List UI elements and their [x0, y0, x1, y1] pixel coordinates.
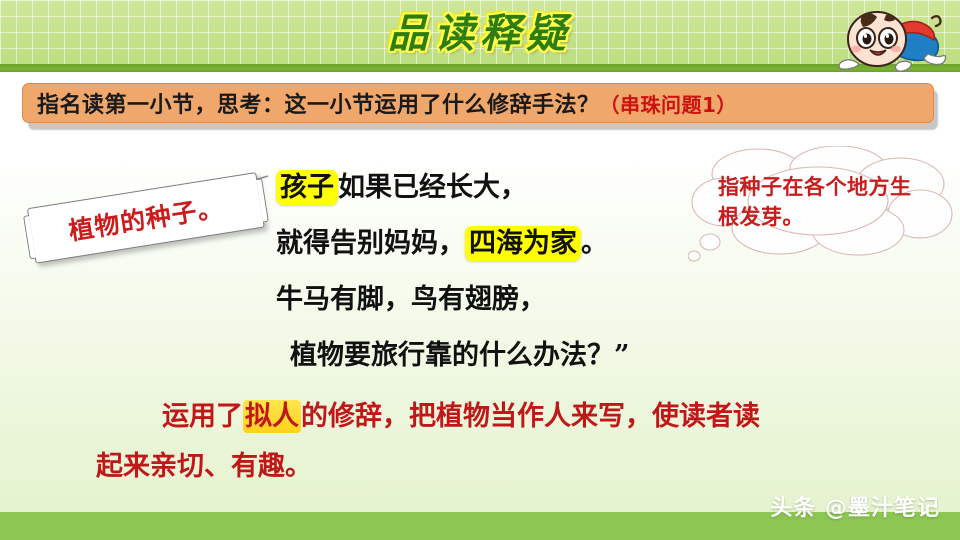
slide-canvas: 品读释疑	[0, 0, 960, 540]
poem-highlight-sihaiweijia: 四海为家	[465, 226, 581, 261]
poem-line-1-text: 如果已经长大，	[338, 172, 527, 203]
poem-block: 孩子如果已经长大， 就得告别妈妈，四海为家。 牛马有脚，鸟有翅膀， 植物要旅行靠…	[276, 160, 736, 384]
thought-bubble-text: 指种子在各个地方生根发芽。	[718, 172, 928, 232]
slide-header: 品读释疑	[0, 0, 960, 72]
poem-line-1: 孩子如果已经长大，	[276, 160, 736, 216]
answer-line-2: 起来亲切、有趣。	[96, 442, 906, 492]
poem-line-3: 牛马有脚，鸟有翅膀，	[276, 272, 736, 328]
watermark: 头条 @墨汁笔记	[770, 490, 940, 522]
poem-line-2-post: 。	[581, 228, 608, 259]
question-bar-text: 指名读第一小节，思考：这一小节运用了什么修辞手法？（串珠问题1）	[37, 87, 737, 119]
header-divider-band	[0, 64, 960, 72]
answer-line-1: 运用了拟人的修辞，把植物当作人来写，使读者读	[96, 392, 906, 442]
question-text-tag: （串珠问题1）	[600, 93, 737, 117]
poem-line-2-pre: 就得告别妈妈，	[276, 228, 465, 259]
answer-line-1-pre: 运用了	[162, 401, 243, 432]
answer-line-1-post: 的修辞，把植物当作人来写，使读者读	[301, 401, 760, 432]
thought-bubble: 指种子在各个地方生根发芽。	[688, 146, 956, 268]
answer-highlight-niren: 拟人	[243, 400, 301, 433]
question-bar: 指名读第一小节，思考：这一小节运用了什么修辞手法？（串珠问题1）	[22, 83, 934, 123]
answer-block: 运用了拟人的修辞，把植物当作人来写，使读者读 起来亲切、有趣。	[96, 392, 906, 492]
poem-line-4: 植物要旅行靠的什么办法？”	[276, 328, 736, 384]
question-text-main: 指名读第一小节，思考：这一小节运用了什么修辞手法？	[37, 93, 600, 118]
poem-line-2: 就得告别妈妈，四海为家。	[276, 216, 736, 272]
page-title: 品读释疑	[0, 8, 960, 60]
crawling-baby-mascot-icon	[836, 2, 954, 72]
